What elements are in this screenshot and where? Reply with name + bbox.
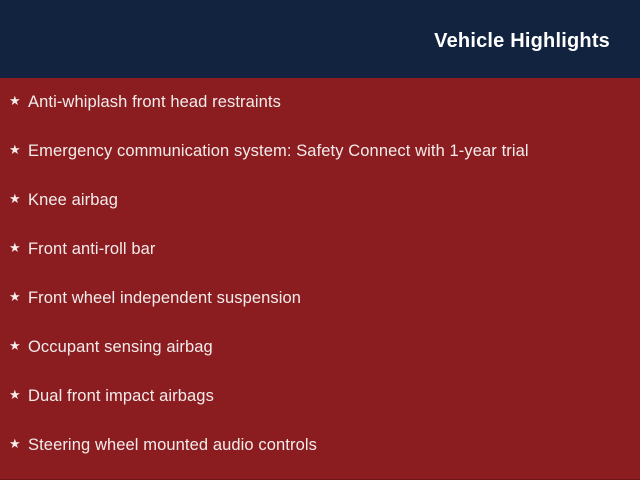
star-bullet-icon: ★ (9, 437, 28, 450)
star-bullet-icon: ★ (9, 241, 28, 254)
list-item: ★ Occupant sensing airbag (0, 339, 640, 388)
list-item: ★ Dual front impact airbags (0, 388, 640, 437)
list-item-label: Knee airbag (28, 192, 640, 209)
list-item-label: Steering wheel mounted audio controls (28, 437, 640, 454)
list-item: ★ Front wheel independent suspension (0, 290, 640, 339)
list-item: ★ Front anti-roll bar (0, 241, 640, 290)
vehicle-highlights-slide: Vehicle Highlights ★ Anti-whiplash front… (0, 0, 640, 480)
highlights-section: ★ Anti-whiplash front head restraints ★ … (0, 78, 640, 480)
list-item-label: Emergency communication system: Safety C… (28, 143, 640, 160)
page-title: Vehicle Highlights (434, 31, 610, 51)
list-item-label: Anti-whiplash front head restraints (28, 94, 640, 111)
list-item: ★ Knee airbag (0, 192, 640, 241)
list-item: ★ Anti-whiplash front head restraints (0, 94, 640, 143)
star-bullet-icon: ★ (9, 339, 28, 352)
star-bullet-icon: ★ (9, 290, 28, 303)
star-bullet-icon: ★ (9, 143, 28, 156)
list-item-label: Dual front impact airbags (28, 388, 640, 405)
list-item: ★ Steering wheel mounted audio controls (0, 437, 640, 480)
list-item-label: Front anti-roll bar (28, 241, 640, 258)
star-bullet-icon: ★ (9, 94, 28, 107)
highlights-list: ★ Anti-whiplash front head restraints ★ … (0, 94, 640, 480)
list-item-label: Front wheel independent suspension (28, 290, 640, 307)
slide-header: Vehicle Highlights (0, 0, 640, 78)
list-item-label: Occupant sensing airbag (28, 339, 640, 356)
list-item: ★ Emergency communication system: Safety… (0, 143, 640, 192)
star-bullet-icon: ★ (9, 388, 28, 401)
star-bullet-icon: ★ (9, 192, 28, 205)
